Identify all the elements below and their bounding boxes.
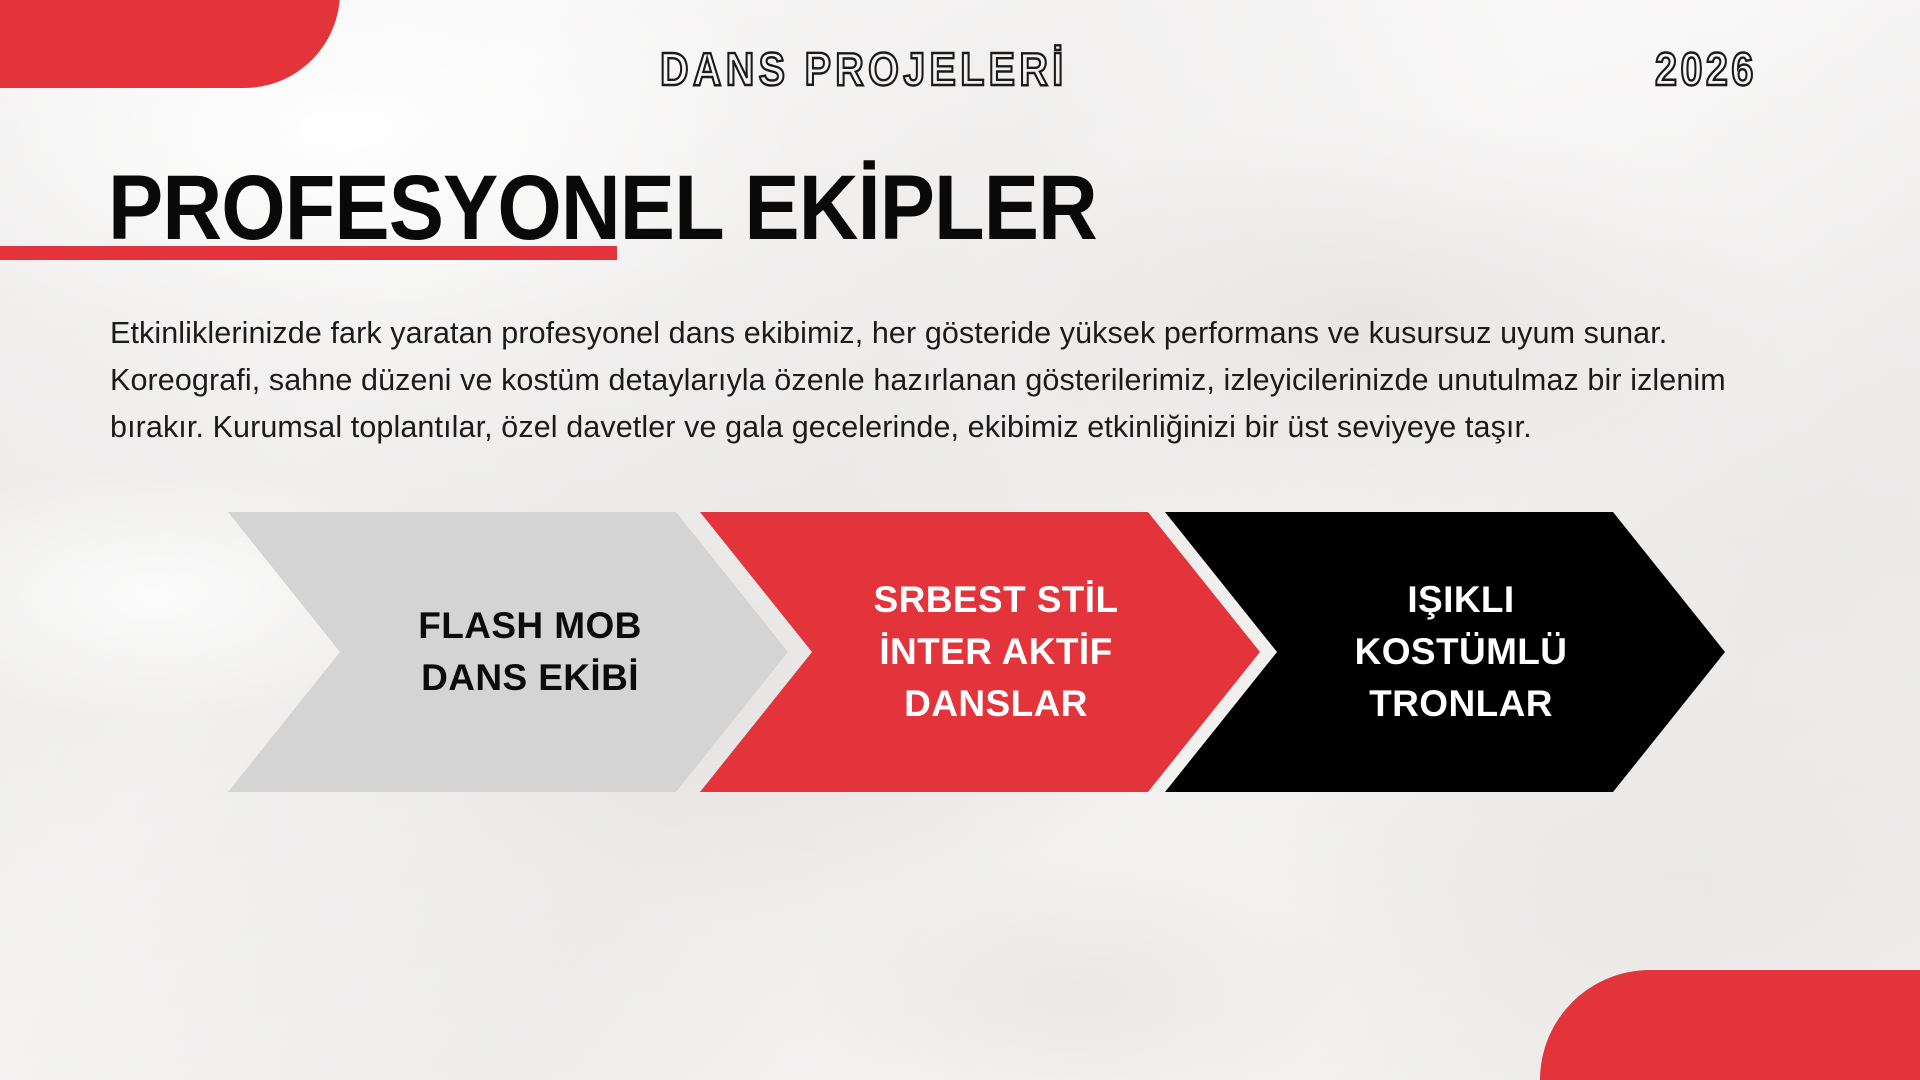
chevron-group: FLASH MOB DANS EKİBİ SRBEST STİL İNTER A… bbox=[0, 512, 1920, 792]
chevron-item-3-label: IŞIKLI KOSTÜMLÜ TRONLAR bbox=[1355, 574, 1568, 730]
header-title: DANS PROJELERİ bbox=[660, 42, 1068, 96]
slide-header: DANS PROJELERİ 2026 bbox=[0, 30, 1920, 100]
chevron-item-1-label: FLASH MOB DANS EKİBİ bbox=[418, 600, 642, 704]
bottom-right-red-shape bbox=[1540, 970, 1920, 1080]
page-title-wrap: PROFESYONEL EKİPLER bbox=[108, 158, 1207, 268]
body-paragraph: Etkinliklerinizde fark yaratan profesyon… bbox=[110, 310, 1816, 451]
chevron-item-2-label: SRBEST STİL İNTER AKTİF DANSLAR bbox=[874, 574, 1119, 730]
slide-canvas: DANS PROJELERİ 2026 PROFESYONEL EKİPLER … bbox=[0, 0, 1920, 1080]
page-title: PROFESYONEL EKİPLER bbox=[108, 158, 1097, 258]
chevron-item-1[interactable]: FLASH MOB DANS EKİBİ bbox=[228, 512, 788, 792]
header-year: 2026 bbox=[1655, 42, 1757, 96]
